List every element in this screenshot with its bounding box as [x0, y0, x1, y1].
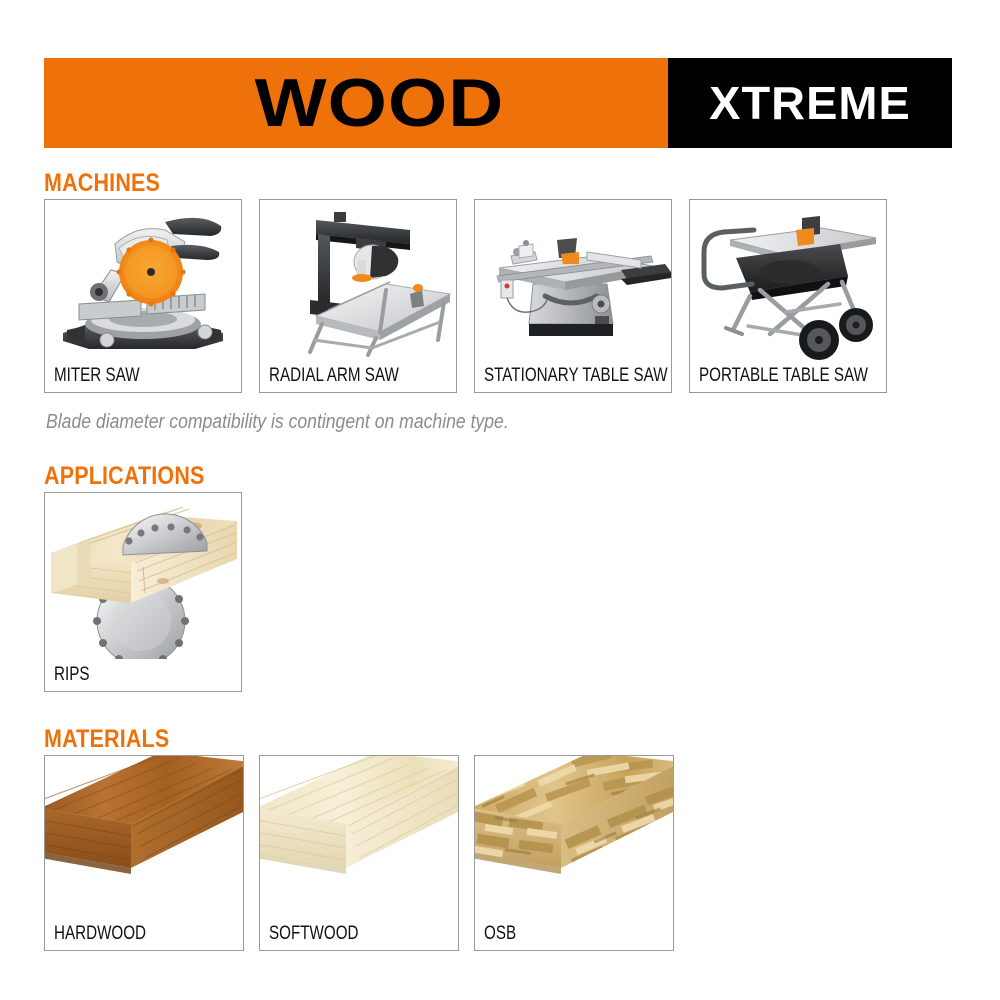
- osb-icon: [475, 756, 673, 918]
- material-card-osb[interactable]: OSB: [474, 755, 674, 951]
- portable-table-saw-icon: [690, 200, 886, 360]
- machine-card-stationary-table-saw[interactable]: STATIONARY TABLE SAW: [474, 199, 672, 393]
- miter-saw-icon: [45, 200, 241, 360]
- machine-card-label: MITER SAW: [45, 358, 241, 392]
- application-card-label: RIPS: [45, 657, 241, 691]
- machine-card-label: RADIAL ARM SAW: [260, 358, 456, 392]
- material-card-label: HARDWOOD: [45, 916, 243, 950]
- header-badge: XTREME: [665, 58, 955, 148]
- machine-card-portable-table-saw[interactable]: PORTABLE TABLE SAW: [689, 199, 887, 393]
- hardwood-icon: [45, 756, 243, 918]
- section-heading-machines: MACHINES: [44, 171, 160, 196]
- material-card-softwood[interactable]: SOFTWOOD: [259, 755, 459, 951]
- product-spec-sheet: WOOD XTREME MACHINES: [0, 0, 1000, 1000]
- section-heading-materials: MATERIALS: [44, 727, 169, 752]
- material-card-label: OSB: [475, 916, 673, 950]
- machine-card-radial-arm-saw[interactable]: RADIAL ARM SAW: [259, 199, 457, 393]
- blade-diameter-note: Blade diameter compatibility is continge…: [46, 412, 509, 432]
- machine-card-label: PORTABLE TABLE SAW: [690, 358, 886, 392]
- rip-cut-icon: [45, 493, 241, 659]
- machine-card-label: STATIONARY TABLE SAW: [475, 358, 671, 392]
- header-title: WOOD: [7, 58, 706, 148]
- material-card-label: SOFTWOOD: [260, 916, 458, 950]
- header-banner: WOOD XTREME: [44, 58, 952, 148]
- radial-arm-saw-icon: [260, 200, 456, 360]
- application-card-rips[interactable]: RIPS: [44, 492, 242, 692]
- softwood-icon: [260, 756, 458, 918]
- material-card-hardwood[interactable]: HARDWOOD: [44, 755, 244, 951]
- section-heading-applications: APPLICATIONS: [44, 464, 205, 489]
- machine-card-miter-saw[interactable]: MITER SAW: [44, 199, 242, 393]
- stationary-table-saw-icon: [475, 200, 671, 360]
